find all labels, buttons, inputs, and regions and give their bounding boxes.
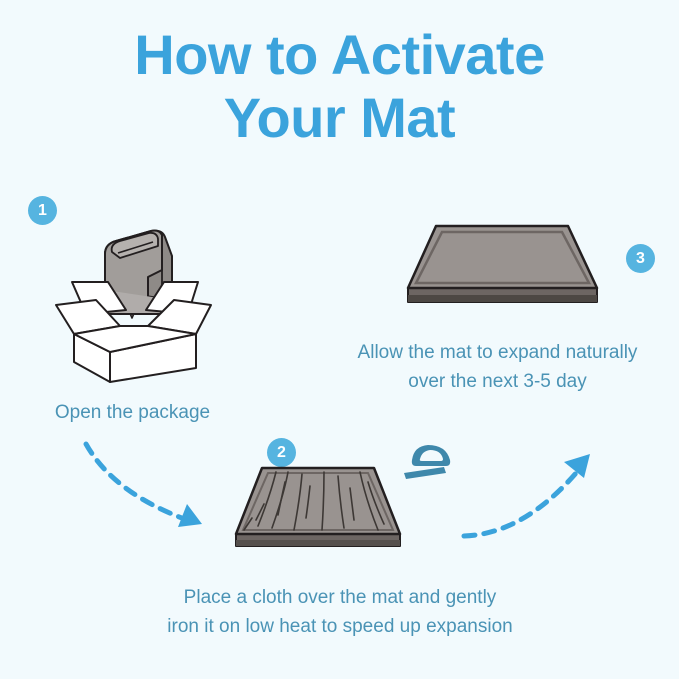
- arrow-step2-to-step3-icon: [460, 448, 605, 548]
- arrow-step1-to-step2-icon: [80, 436, 230, 541]
- title-line-2: Your Mat: [0, 87, 679, 150]
- open-package-illustration: [48, 222, 223, 387]
- flat-mat-illustration: [400, 218, 605, 313]
- title-line-1: How to Activate: [0, 24, 679, 87]
- step-3-caption-line-1: Allow the mat to expand naturally: [320, 338, 675, 367]
- step-badge-3: 3: [626, 244, 655, 273]
- step-badge-1: 1: [28, 196, 57, 225]
- page-title: How to Activate Your Mat: [0, 24, 679, 149]
- step-3-caption-line-2: over the next 3-5 day: [320, 367, 675, 396]
- box-body-graphic: [74, 326, 196, 382]
- step-2-caption: Place a cloth over the mat and gently ir…: [110, 583, 570, 642]
- step-3-caption: Allow the mat to expand naturally over t…: [320, 338, 675, 397]
- infographic-canvas: How to Activate Your Mat 1: [0, 0, 679, 679]
- iron-icon: [396, 440, 454, 486]
- step-2-caption-line-1: Place a cloth over the mat and gently: [110, 583, 570, 612]
- step-2-caption-line-2: iron it on low heat to speed up expansio…: [110, 612, 570, 641]
- wrinkled-mat-illustration: [228, 460, 408, 560]
- step-1-caption: Open the package: [0, 398, 265, 427]
